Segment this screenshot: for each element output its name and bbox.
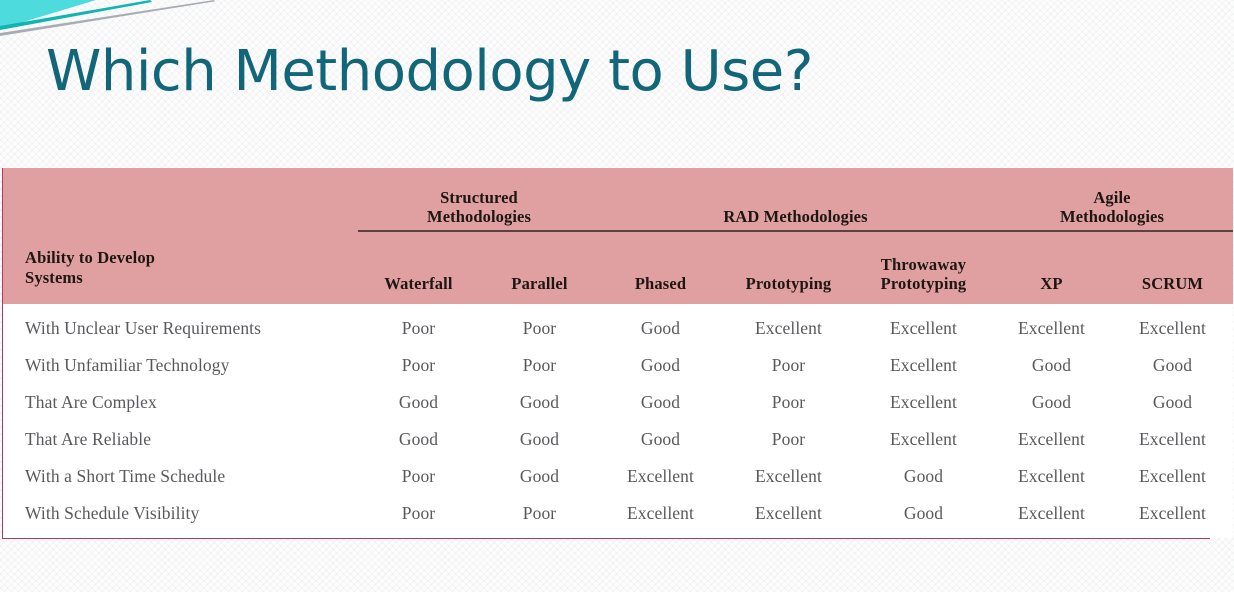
row-label: With Unfamiliar Technology (3, 347, 358, 384)
column-header-throwaway-line2: Prototyping (856, 275, 991, 294)
group-header-agile-line2: Methodologies (991, 207, 1233, 226)
cell-waterfall: Poor (358, 495, 479, 538)
cell-xp: Good (991, 347, 1112, 384)
cell-prototyping: Excellent (721, 304, 856, 347)
corner-swoosh-icon (0, 0, 230, 44)
cell-prototyping: Excellent (721, 495, 856, 538)
cell-phased: Good (600, 384, 721, 421)
column-header-prototyping-label: Prototyping (746, 274, 832, 293)
column-header-waterfall: Waterfall (358, 231, 479, 304)
cell-phased: Excellent (600, 495, 721, 538)
cell-prototyping: Poor (721, 421, 856, 458)
cell-scrum: Good (1112, 347, 1233, 384)
table-header: Structured Methodologies RAD Methodologi… (3, 168, 1233, 304)
cell-scrum: Excellent (1112, 304, 1233, 347)
table-row: With Unclear User Requirements Poor Poor… (3, 304, 1233, 347)
cell-parallel: Poor (479, 347, 600, 384)
cell-prototyping: Poor (721, 384, 856, 421)
cell-parallel: Good (479, 421, 600, 458)
cell-throwaway-prototyping: Excellent (856, 384, 991, 421)
group-header-spacer (3, 168, 358, 231)
column-header-prototyping: Prototyping (721, 231, 856, 304)
cell-xp: Good (991, 384, 1112, 421)
table-row: With Schedule Visibility Poor Poor Excel… (3, 495, 1233, 538)
row-label: With Unclear User Requirements (3, 304, 358, 347)
cell-throwaway-prototyping: Good (856, 458, 991, 495)
cell-throwaway-prototyping: Excellent (856, 304, 991, 347)
group-header-rad: RAD Methodologies (600, 168, 991, 231)
column-header-throwaway-line1: Throwaway (856, 256, 991, 275)
table-body: With Unclear User Requirements Poor Poor… (3, 304, 1233, 538)
cell-scrum: Excellent (1112, 458, 1233, 495)
cell-waterfall: Poor (358, 458, 479, 495)
row-label: With a Short Time Schedule (3, 458, 358, 495)
column-header-phased: Phased (600, 231, 721, 304)
cell-throwaway-prototyping: Excellent (856, 421, 991, 458)
cell-parallel: Poor (479, 304, 600, 347)
cell-parallel: Good (479, 384, 600, 421)
column-header-waterfall-label: Waterfall (384, 274, 452, 293)
page-title: Which Methodology to Use? (46, 42, 1196, 101)
column-header-ability-line2: Systems (25, 268, 358, 288)
cell-parallel: Good (479, 458, 600, 495)
table-row: With Unfamiliar Technology Poor Poor Goo… (3, 347, 1233, 384)
row-label: That Are Complex (3, 384, 358, 421)
cell-phased: Excellent (600, 458, 721, 495)
cell-xp: Excellent (991, 458, 1112, 495)
group-header-agile-line1: Agile (991, 188, 1233, 207)
row-label: That Are Reliable (3, 421, 358, 458)
column-header-ability: Ability to Develop Systems (3, 231, 358, 304)
slide-canvas: Which Methodology to Use? Structured Met… (0, 0, 1234, 592)
column-header-xp: XP (991, 231, 1112, 304)
column-header-scrum-label: SCRUM (1142, 274, 1203, 293)
table-column-header-row: Ability to Develop Systems Waterfall Par… (3, 231, 1233, 304)
cell-scrum: Good (1112, 384, 1233, 421)
group-header-structured-line1: Structured (358, 188, 600, 207)
cell-phased: Good (600, 304, 721, 347)
cell-xp: Excellent (991, 304, 1112, 347)
column-header-parallel-label: Parallel (511, 274, 567, 293)
cell-throwaway-prototyping: Excellent (856, 347, 991, 384)
cell-waterfall: Good (358, 421, 479, 458)
methodology-comparison-table: Structured Methodologies RAD Methodologi… (2, 168, 1210, 539)
column-header-throwaway-prototyping: Throwaway Prototyping (856, 231, 991, 304)
cell-parallel: Poor (479, 495, 600, 538)
cell-prototyping: Excellent (721, 458, 856, 495)
cell-waterfall: Poor (358, 347, 479, 384)
group-header-structured-line2: Methodologies (358, 207, 600, 226)
group-header-agile: Agile Methodologies (991, 168, 1233, 231)
table-row: That Are Complex Good Good Good Poor Exc… (3, 384, 1233, 421)
cell-xp: Excellent (991, 421, 1112, 458)
cell-xp: Excellent (991, 495, 1112, 538)
table-group-header-row: Structured Methodologies RAD Methodologi… (3, 168, 1233, 231)
group-header-structured: Structured Methodologies (358, 168, 600, 231)
column-header-ability-line1: Ability to Develop (25, 248, 155, 267)
cell-throwaway-prototyping: Good (856, 495, 991, 538)
group-header-rad-line1: RAD Methodologies (600, 207, 991, 226)
table-row: With a Short Time Schedule Poor Good Exc… (3, 458, 1233, 495)
cell-phased: Good (600, 347, 721, 384)
column-header-phased-label: Phased (635, 274, 686, 293)
column-header-parallel: Parallel (479, 231, 600, 304)
cell-waterfall: Good (358, 384, 479, 421)
cell-waterfall: Poor (358, 304, 479, 347)
column-header-xp-label: XP (1040, 274, 1062, 293)
cell-scrum: Excellent (1112, 495, 1233, 538)
row-label: With Schedule Visibility (3, 495, 358, 538)
table-row: That Are Reliable Good Good Good Poor Ex… (3, 421, 1233, 458)
cell-prototyping: Poor (721, 347, 856, 384)
cell-phased: Good (600, 421, 721, 458)
column-header-scrum: SCRUM (1112, 231, 1233, 304)
cell-scrum: Excellent (1112, 421, 1233, 458)
